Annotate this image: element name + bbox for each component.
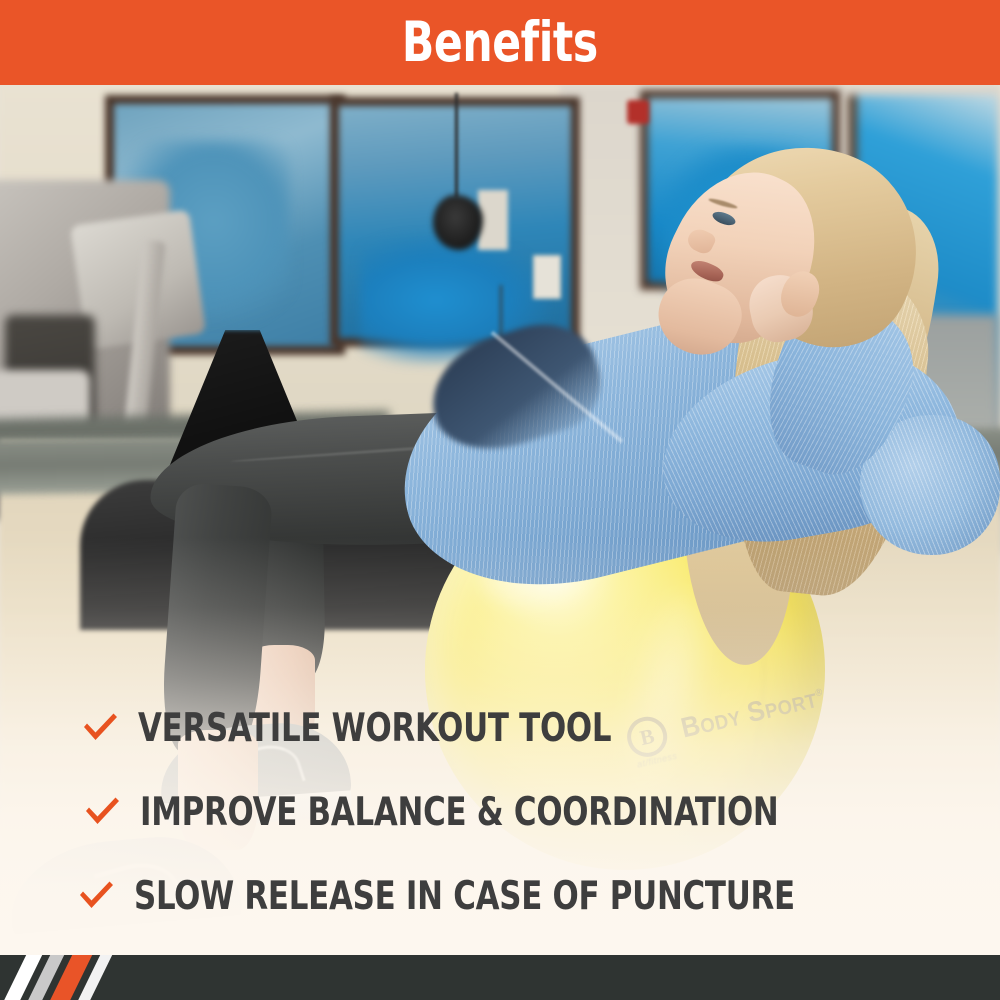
list-item: IMPROVE BALANCE & COORDINATION <box>0 770 1000 854</box>
check-icon <box>80 708 120 748</box>
benefits-poster: Benefits CROSS TRAIN FITNESS <box>0 0 1000 1000</box>
list-item: VERSATILE WORKOUT TOOL <box>0 686 1000 770</box>
benefits-list: VERSATILE WORKOUT TOOL IMPROVE BALANCE &… <box>0 686 1000 938</box>
benefit-label: VERSATILE WORKOUT TOOL <box>138 709 611 748</box>
wall-switch-plate <box>533 255 561 299</box>
header-banner: Benefits <box>0 0 1000 85</box>
cable-line <box>455 93 458 198</box>
page-title: Benefits <box>402 15 598 70</box>
check-icon <box>76 876 116 916</box>
footer-strip <box>0 955 1000 1000</box>
benefit-label: SLOW RELEASE IN CASE OF PUNCTURE <box>134 877 795 916</box>
check-icon <box>82 792 122 832</box>
fire-alarm-icon <box>627 100 649 124</box>
list-item: SLOW RELEASE IN CASE OF PUNCTURE <box>0 854 1000 938</box>
benefit-label: IMPROVE BALANCE & COORDINATION <box>140 793 779 832</box>
